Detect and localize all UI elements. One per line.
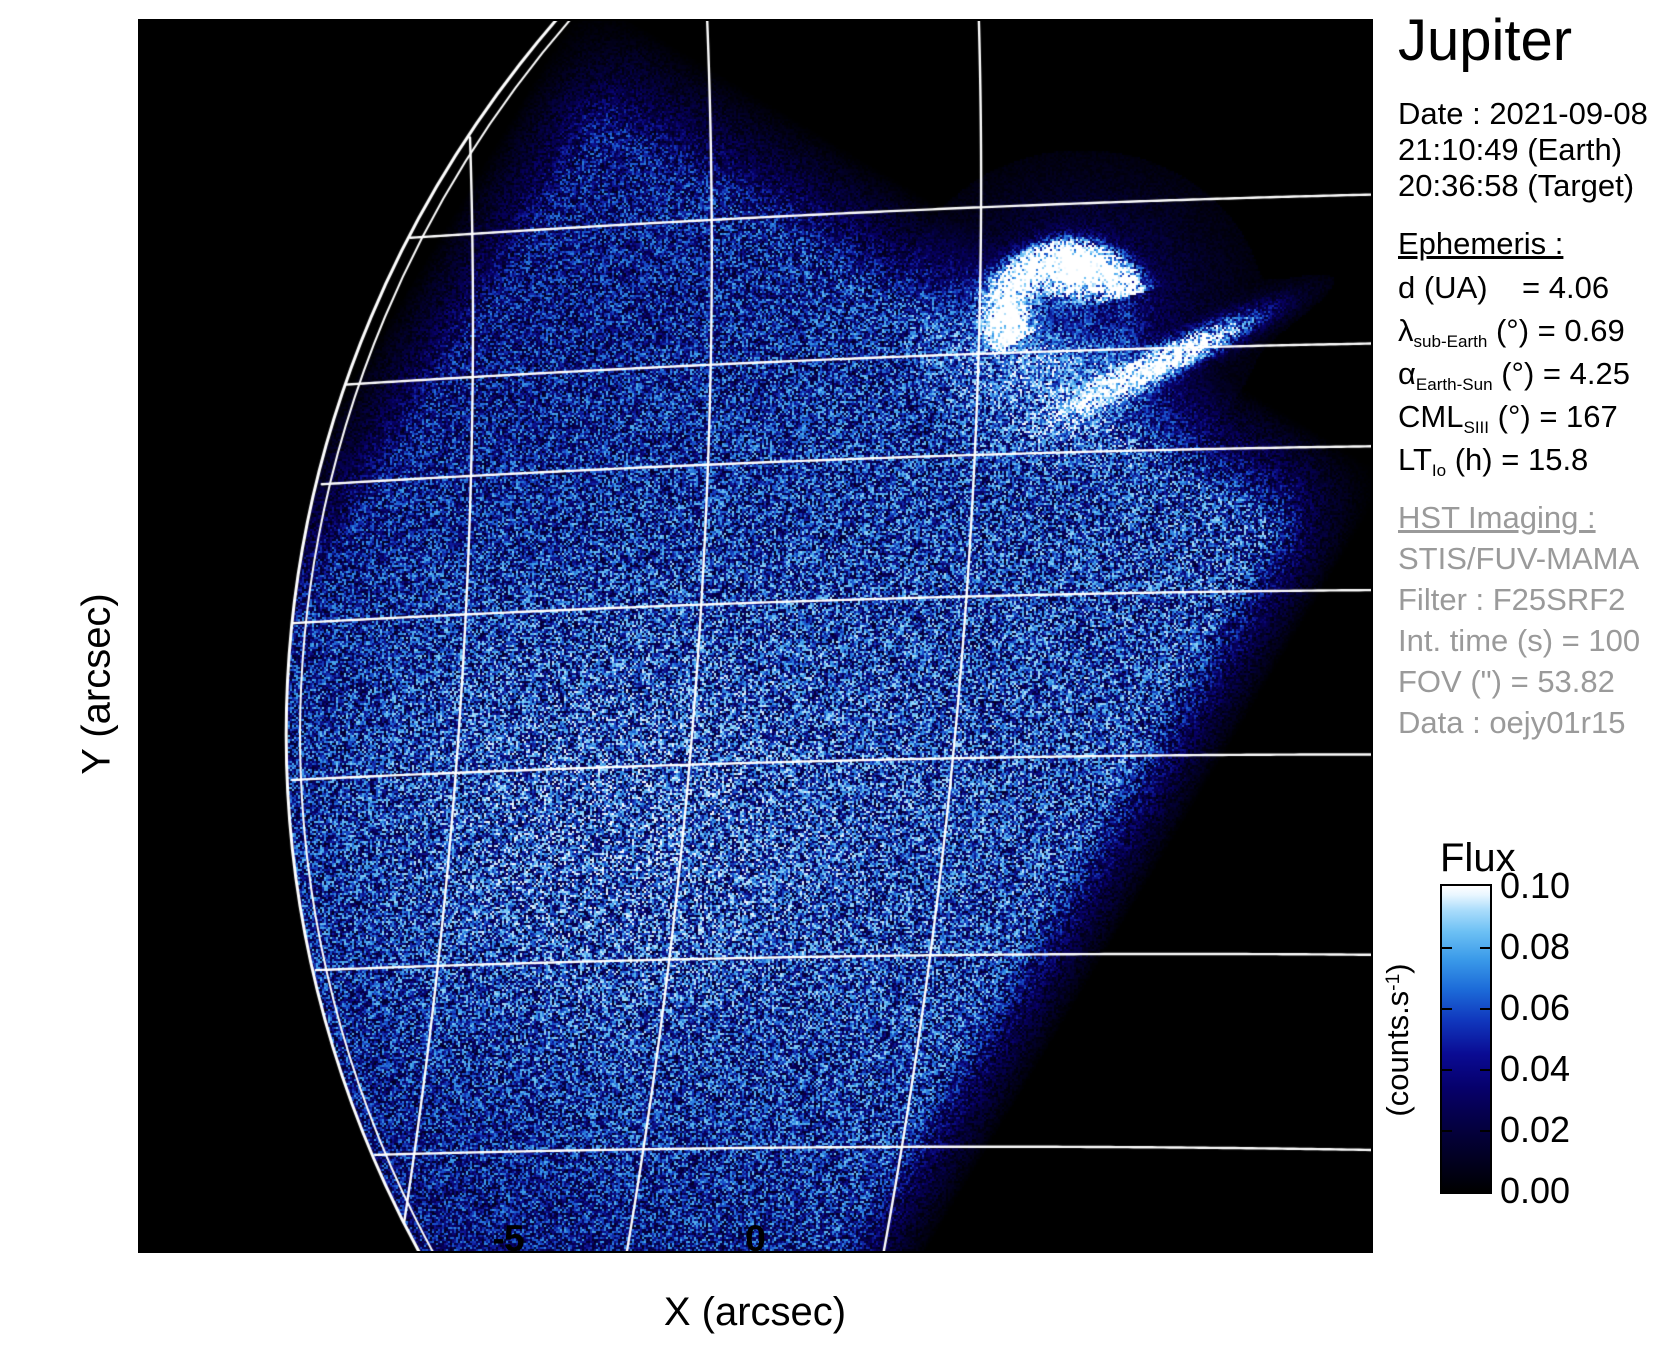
- ephemeris-value-alpha: = 4.25: [1543, 356, 1630, 391]
- colorbar-tickmark-right-004: [1480, 1069, 1492, 1071]
- colorbar-tickmark-right-002: [1480, 1130, 1492, 1132]
- info-panel: Jupiter Date : 2021-09-08 21:10:49 (Eart…: [1390, 0, 1676, 1367]
- observation-date: Date : 2021-09-08: [1398, 96, 1648, 132]
- x-tick-5: 5: [992, 1218, 1012, 1260]
- ephemeris-label-alpha: α: [1398, 356, 1416, 391]
- hst-field-of-view: FOV (") = 53.82: [1398, 664, 1615, 700]
- ephemeris-row-io-local-time: LTIo (h) = 15.8: [1398, 442, 1588, 483]
- ephemeris-value-lt: = 15.8: [1501, 442, 1588, 477]
- ephemeris-value-d: = 4.06: [1522, 270, 1609, 305]
- colorbar-tickmark-right-006: [1480, 1008, 1492, 1010]
- colorbar-axis-text: (counts.s: [1380, 991, 1415, 1117]
- hst-imaging-header: HST Imaging :: [1398, 500, 1596, 536]
- colorbar-tickmark-008: [1440, 947, 1452, 949]
- ephemeris-row-cml: CMLSIII (°) = 167: [1398, 399, 1618, 440]
- observation-time-earth: 21:10:49 (Earth): [1398, 132, 1622, 168]
- ephemeris-sub-lambda: sub-Earth: [1414, 332, 1488, 351]
- x-tick-neg5: -5: [493, 1218, 524, 1260]
- ephemeris-label-cml: CML: [1398, 399, 1463, 434]
- colorbar-tick-002: 0.02: [1500, 1109, 1570, 1151]
- ephemeris-unit-cml: (°): [1498, 399, 1531, 434]
- ephemeris-label-d: d (UA): [1398, 270, 1488, 305]
- colorbar-gradient: [1440, 884, 1492, 1194]
- colorbar-axis-label: (counts.s-1): [1380, 963, 1416, 1116]
- colorbar-tick-010: 0.10: [1500, 865, 1570, 907]
- ephemeris-header: Ephemeris :: [1398, 226, 1563, 262]
- ephemeris-unit-lambda: (°): [1496, 313, 1529, 348]
- colorbar-tick-008: 0.08: [1500, 926, 1570, 968]
- colorbar-tickmark-006: [1440, 1008, 1452, 1010]
- hst-instrument: STIS/FUV-MAMA: [1398, 541, 1639, 577]
- colorbar-tick-006: 0.06: [1500, 987, 1570, 1029]
- colorbar-tickmark-002: [1440, 1130, 1452, 1132]
- plot-border: [138, 19, 1373, 1253]
- ephemeris-value-cml: = 167: [1539, 399, 1617, 434]
- ephemeris-row-distance: d (UA) = 4.06: [1398, 270, 1609, 306]
- plot-area: [138, 19, 1373, 1253]
- page-title: Jupiter: [1398, 12, 1572, 70]
- colorbar-axis-close: ): [1380, 963, 1415, 973]
- ephemeris-unit-alpha: (°): [1501, 356, 1534, 391]
- hst-integration-time: Int. time (s) = 100: [1398, 623, 1640, 659]
- ephemeris-sub-alpha: Earth-Sun: [1416, 375, 1493, 394]
- ephemeris-sub-cml: SIII: [1463, 418, 1489, 437]
- colorbar-tick-004: 0.04: [1500, 1048, 1570, 1090]
- colorbar-tick-000: 0.00: [1500, 1170, 1570, 1212]
- x-tick-neg10: -10: [236, 1218, 286, 1260]
- ephemeris-sub-lt: Io: [1432, 461, 1446, 480]
- ephemeris-row-sub-earth-lat: λsub-Earth (°) = 0.69: [1398, 313, 1625, 354]
- ephemeris-label-lambda: λ: [1398, 313, 1414, 348]
- hst-filter: Filter : F25SRF2: [1398, 582, 1625, 618]
- colorbar-axis-exponent: -1: [1383, 974, 1404, 991]
- hst-data-id: Data : oejy01r15: [1398, 705, 1625, 741]
- x-tick-0: 0: [745, 1218, 765, 1260]
- colorbar-tickmark-004: [1440, 1069, 1452, 1071]
- colorbar-tickmark-right-008: [1480, 947, 1492, 949]
- ephemeris-unit-lt: (h): [1455, 442, 1493, 477]
- ephemeris-label-lt: LT: [1398, 442, 1432, 477]
- observation-time-target: 20:36:58 (Target): [1398, 168, 1634, 204]
- x-tick-10: 10: [1229, 1218, 1268, 1260]
- x-axis-label: X (arcsec): [664, 1290, 846, 1335]
- ephemeris-value-lambda: = 0.69: [1538, 313, 1625, 348]
- y-axis-label: Y (arcsec): [74, 593, 119, 775]
- ephemeris-row-phase-angle: αEarth-Sun (°) = 4.25: [1398, 356, 1630, 397]
